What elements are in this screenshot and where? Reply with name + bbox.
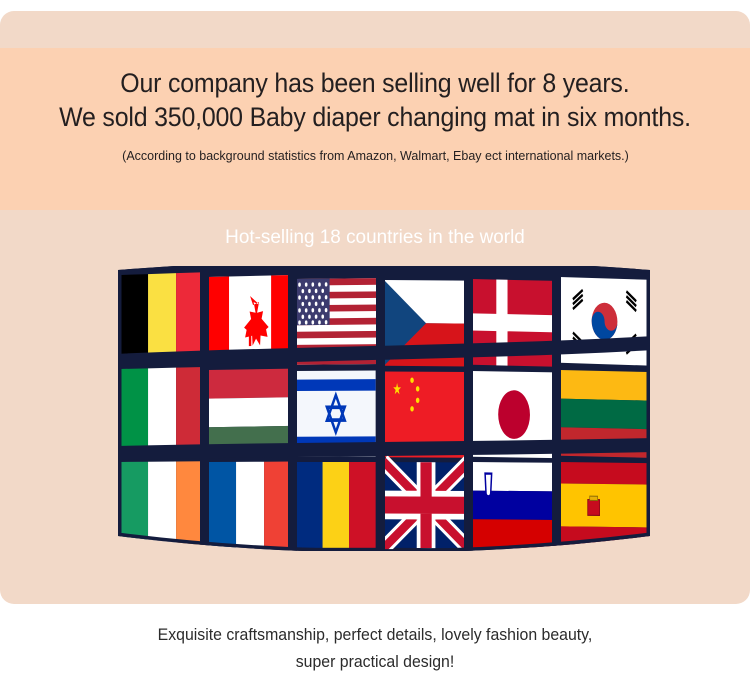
headline-banner: Our company has been selling well for 8 …: [0, 48, 750, 210]
product-banner-page: Our company has been selling well for 8 …: [0, 0, 750, 697]
headline-subnote: (According to background statistics from…: [122, 147, 629, 164]
hot-selling-heading: Hot-selling 18 countries in the world: [11, 223, 739, 251]
flag-wall: [114, 266, 654, 551]
headline-line-1: Our company has been selling well for 8 …: [120, 66, 629, 100]
peach-panel: Our company has been selling well for 8 …: [0, 11, 750, 604]
footer-tagline-line-2: super practical design!: [15, 649, 735, 676]
footer-tagline-line-1: Exquisite craftsmanship, perfect details…: [15, 622, 735, 649]
footer-tagline: Exquisite craftsmanship, perfect details…: [15, 622, 735, 676]
headline-line-2: We sold 350,000 Baby diaper changing mat…: [59, 100, 691, 134]
headline-banner-content: Our company has been selling well for 8 …: [0, 48, 750, 210]
